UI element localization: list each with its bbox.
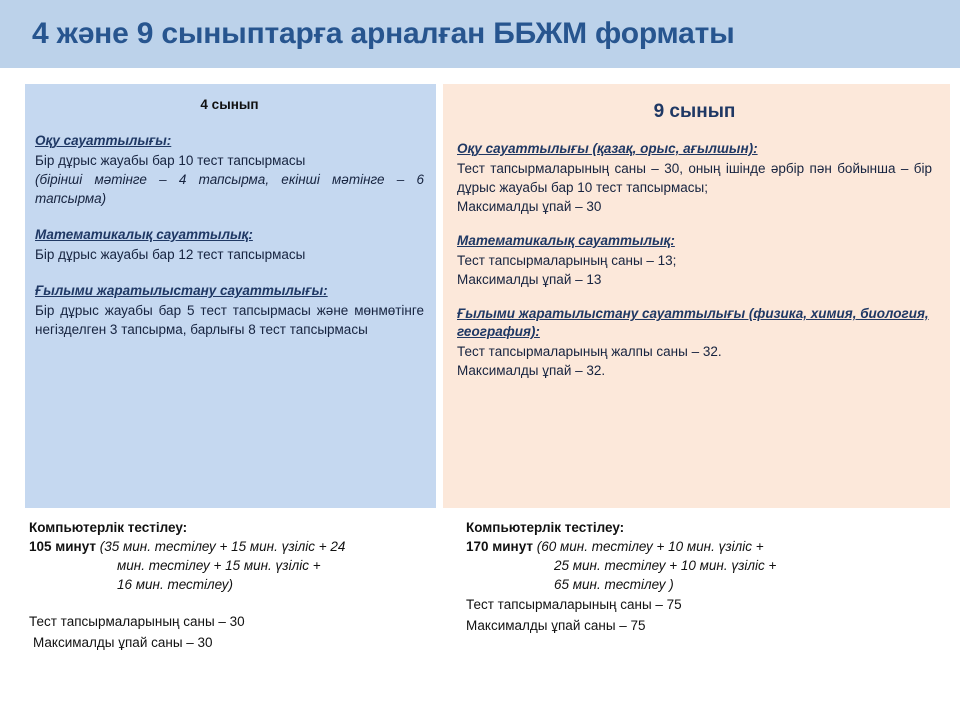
grade4-reading-line-1: Бір дұрыс жауабы бар 10 тест тапсырмасы — [35, 151, 424, 170]
grade4-reading-title: Оқу сауаттылығы: — [35, 132, 424, 150]
grade9-duration-detail-1: (60 мин. тестілеу + 10 мин. үзіліс + — [537, 539, 764, 554]
grade4-math-title: Математикалық сауаттылық: — [35, 226, 424, 244]
grade4-duration-value: 105 минут — [29, 539, 96, 554]
grade4-section-science: Ғылыми жаратылыстану сауаттылығы: Бір дұ… — [35, 282, 424, 339]
grade9-math-line-1: Тест тапсырмаларының саны – 13; — [457, 251, 932, 270]
grade4-duration-detail-1: (35 мин. тестілеу + 15 мин. үзіліс + 24 — [100, 539, 346, 554]
grade4-spacer — [29, 594, 449, 611]
grade4-duration-row: 105 минут (35 мин. тестілеу + 15 мин. үз… — [29, 537, 449, 556]
panel-divider — [436, 84, 443, 508]
grade4-section-reading: Оқу сауаттылығы: Бір дұрыс жауабы бар 10… — [35, 132, 424, 208]
grade9-testing-block: Компьютерлік тестілеу: 170 минут (60 мин… — [466, 512, 916, 636]
grade9-section-math: Математикалық сауаттылық: Тест тапсырмал… — [457, 232, 932, 289]
grade9-duration-detail-3: 65 мин. тестілеу ) — [466, 575, 916, 594]
grade4-max-score: Максималды ұпай саны – 30 — [29, 632, 449, 653]
grade4-science-line-1: Бір дұрыс жауабы бар 5 тест тапсырмасы ж… — [35, 301, 424, 339]
comparison-panels: 4 сынып Оқу сауаттылығы: Бір дұрыс жауаб… — [25, 84, 950, 508]
grade4-section-math: Математикалық сауаттылық: Бір дұрыс жауа… — [35, 226, 424, 264]
grade4-task-count: Тест тапсырмаларының саны – 30 — [29, 611, 449, 632]
grade9-duration-detail-2: 25 мин. тестілеу + 10 мин. үзіліс + — [466, 556, 916, 575]
grade9-section-science: Ғылыми жаратылыстану сауаттылығы (физика… — [457, 305, 932, 380]
grade9-science-line-2: Максималды ұпай – 32. — [457, 361, 932, 380]
page-title: 4 және 9 сыныптарға арналған ББЖМ формат… — [32, 16, 932, 52]
grade9-duration-value: 170 минут — [466, 539, 533, 554]
grade9-math-title: Математикалық сауаттылық: — [457, 232, 932, 250]
grade9-math-line-2: Максималды ұпай – 13 — [457, 270, 932, 289]
grade4-panel: 4 сынып Оқу сауаттылығы: Бір дұрыс жауаб… — [25, 84, 436, 508]
grade4-duration-detail-3: 16 мин. тестілеу) — [29, 575, 449, 594]
grade9-reading-line-1: Тест тапсырмаларының саны – 30, оның іші… — [457, 159, 932, 197]
grade9-max-score: Максималды ұпай саны – 75 — [466, 615, 916, 636]
grade9-reading-line-2: Максималды ұпай – 30 — [457, 197, 932, 216]
grade9-section-reading: Оқу сауаттылығы (қазақ, орыс, ағылшын): … — [457, 140, 932, 216]
grade4-reading-line-2: (бірінші мәтінге – 4 тапсырма, екінші мә… — [35, 170, 424, 208]
grade9-testing-heading: Компьютерлік тестілеу: — [466, 518, 916, 537]
grade9-science-title: Ғылыми жаратылыстану сауаттылығы (физика… — [457, 305, 932, 341]
grade9-panel: 9 сынып Оқу сауаттылығы (қазақ, орыс, ағ… — [443, 84, 950, 508]
grade9-science-line-1: Тест тапсырмаларының жалпы саны – 32. — [457, 342, 932, 361]
grade4-column-title: 4 сынып — [35, 96, 424, 114]
grade4-testing-heading: Компьютерлік тестілеу: — [29, 518, 449, 537]
grade9-task-count: Тест тапсырмаларының саны – 75 — [466, 594, 916, 615]
grade9-column-title: 9 сынып — [457, 100, 932, 124]
grade4-duration-detail-2: мин. тестілеу + 15 мин. үзіліс + — [29, 556, 449, 575]
grade9-duration-row: 170 минут (60 мин. тестілеу + 10 мин. үз… — [466, 537, 916, 556]
testing-summary: Компьютерлік тестілеу: 105 минут (35 мин… — [0, 512, 960, 720]
grade9-reading-title: Оқу сауаттылығы (қазақ, орыс, ағылшын): — [457, 140, 932, 158]
grade4-testing-block: Компьютерлік тестілеу: 105 минут (35 мин… — [29, 512, 449, 653]
grade4-science-title: Ғылыми жаратылыстану сауаттылығы: — [35, 282, 424, 300]
grade4-math-line-1: Бір дұрыс жауабы бар 12 тест тапсырмасы — [35, 245, 424, 264]
header-banner: 4 және 9 сыныптарға арналған ББЖМ формат… — [0, 0, 960, 68]
